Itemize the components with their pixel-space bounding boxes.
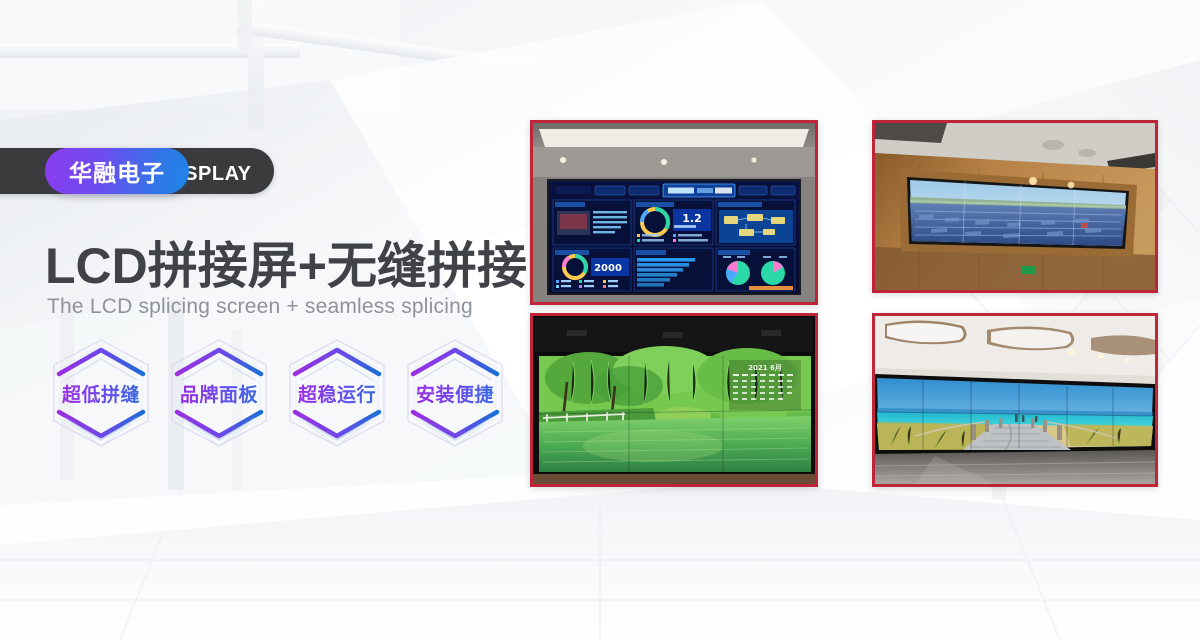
feature-badge-0: 超低拼缝 — [45, 334, 157, 452]
feature-badge-label-2: 超稳运行 — [281, 380, 393, 407]
brand-badge-label: 华融电子 — [69, 154, 165, 188]
feature-badge-2: 超稳运行 — [281, 334, 393, 452]
photo-solar-farm-video-wall — [872, 120, 1158, 293]
svg-text:2021 6月: 2021 6月 — [748, 364, 782, 372]
photo-dashboard-video-wall: 1.2 — [530, 120, 818, 305]
feature-badge-label-0: 超低拼缝 — [45, 380, 157, 407]
feature-badge-label-1: 品牌面板 — [163, 380, 275, 407]
feature-badge-3: 安装便捷 — [399, 334, 511, 452]
svg-text:1.2: 1.2 — [682, 212, 702, 225]
page-title: LCD拼接屏+无缝拼接 — [45, 226, 527, 298]
brand-badge-row: 商显大屏 / DISPLAY 华融电子 — [45, 148, 274, 194]
banner-text-column: 商显大屏 / DISPLAY 华融电子 LCD拼接屏+无缝拼接 The LCD … — [45, 0, 545, 640]
photo-landscape-video-wall: 2021 6月 — [530, 313, 818, 487]
svg-text:2000: 2000 — [594, 263, 622, 274]
product-banner: 商显大屏 / DISPLAY 华融电子 LCD拼接屏+无缝拼接 The LCD … — [0, 0, 1200, 640]
page-subtitle: The LCD splicing screen + seamless splic… — [47, 295, 473, 319]
feature-badge-1: 品牌面板 — [163, 334, 275, 452]
feature-badge-row: 超低拼缝 — [45, 334, 511, 452]
photo-beach-video-wall — [872, 313, 1158, 487]
feature-badge-label-3: 安装便捷 — [399, 380, 511, 407]
brand-badge: 华融电子 — [45, 148, 189, 194]
